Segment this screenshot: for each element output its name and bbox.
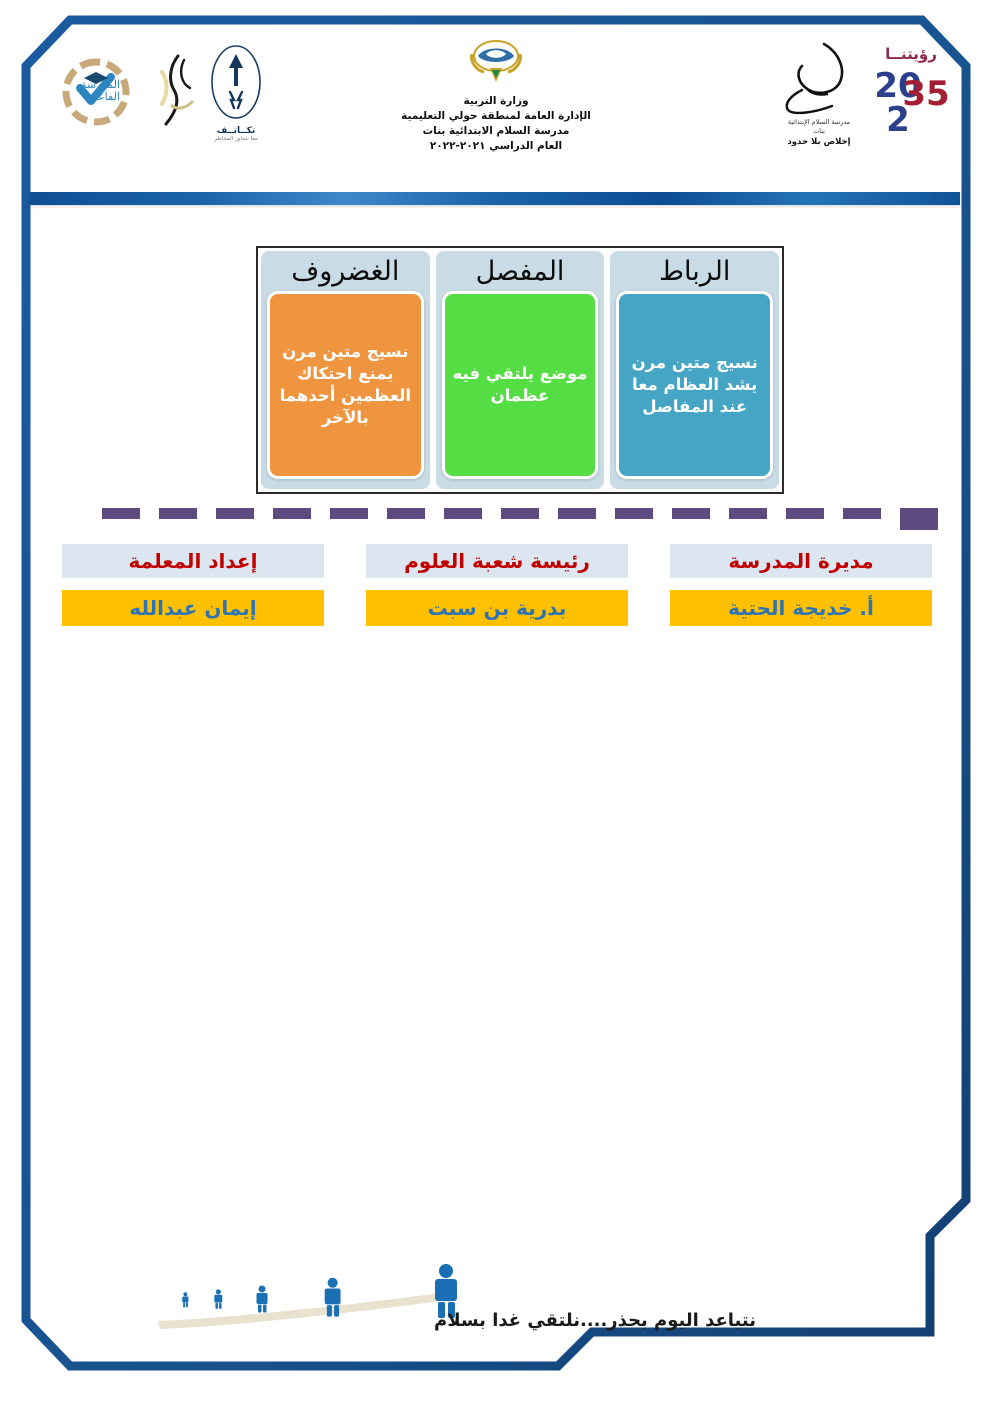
svg-text:مدرسة السلام الإبتدائية: مدرسة السلام الإبتدائية bbox=[788, 118, 850, 126]
footer-distancing-graphic: نتباعد اليوم بحذر....نلتقي غدا بسلام bbox=[36, 1255, 756, 1345]
calligraphy-logo bbox=[148, 46, 202, 138]
credit-column-teacher: إعداد المعلمة إيمان عبدالله bbox=[62, 544, 324, 626]
svg-text:رؤيتنــا: رؤيتنــا bbox=[885, 45, 937, 63]
svg-text:2: 2 bbox=[886, 100, 910, 140]
credit-role-teacher: إعداد المعلمة bbox=[62, 544, 324, 578]
credit-role-principal: مديرة المدرسة bbox=[670, 544, 932, 578]
page-border-frame bbox=[18, 14, 974, 1376]
header-logos-left: تكــاتــف معا نتجاوز المخاطر المدرسة الف… bbox=[50, 42, 264, 142]
credit-name-science-head: بدرية بن سبت bbox=[366, 590, 628, 626]
concepts-container: الرباط نسيج متين مرن يشد العظام معا عند … bbox=[256, 246, 784, 494]
footer-slogan: نتباعد اليوم بحذر....نلتقي غدا بسلام bbox=[434, 1310, 756, 1331]
concept-title-joint: المفصل bbox=[476, 256, 565, 286]
kuwait-emblem-icon bbox=[468, 34, 524, 92]
credit-role-science-head: رئيسة شعبة العلوم bbox=[366, 544, 628, 578]
vision-2035-logo: رؤيتنــا 20 35 2 bbox=[872, 39, 950, 149]
svg-text:بنات: بنات bbox=[813, 127, 825, 135]
concept-body-ligament: نسيج متين مرن يشد العظام معا عند المفاصل bbox=[616, 291, 773, 479]
takatuf-logo-caption: تكــاتــف bbox=[217, 126, 255, 136]
school-identity-logo: مدرسة السلام الإبتدائية بنات إخلاص بلا ح… bbox=[776, 38, 862, 150]
credits-row: مديرة المدرسة أ. خديجة الحتية رئيسة شعبة… bbox=[62, 544, 932, 626]
concept-title-cartilage: الغضروف bbox=[291, 256, 399, 286]
concept-body-joint: موضع يلتقي فيه عظمان bbox=[442, 291, 599, 479]
credit-column-principal: مديرة المدرسة أ. خديجة الحتية bbox=[670, 544, 932, 626]
header-divider-bar bbox=[30, 192, 960, 205]
takatuf-logo: تكــاتــف معا نتجاوز المخاطر bbox=[208, 42, 264, 142]
ministry-line-2: الإدارة العامة لمنطقة حولي التعليمية bbox=[336, 109, 656, 124]
takatuf-logo-sub: معا نتجاوز المخاطر bbox=[214, 136, 258, 142]
ministry-line-1: وزارة التربية bbox=[336, 94, 656, 109]
concept-card-ligament: الرباط نسيج متين مرن يشد العظام معا عند … bbox=[610, 251, 779, 489]
svg-text:الفاعلة: الفاعلة bbox=[89, 90, 120, 103]
effective-school-logo: المدرسة الفاعلة bbox=[50, 54, 142, 130]
concept-card-joint: المفصل موضع يلتقي فيه عظمان bbox=[436, 251, 605, 489]
concept-title-ligament: الرباط bbox=[659, 256, 730, 286]
header-logos-right: رؤيتنــا 20 35 2 مدرسة السلام الإبتدائية… bbox=[776, 38, 950, 150]
ministry-line-4: العام الدراسي ٢٠٢١-٢٠٢٢ bbox=[336, 139, 656, 154]
credit-name-principal: أ. خديجة الحتية bbox=[670, 590, 932, 626]
concept-card-cartilage: الغضروف نسيج متين مرن يمنع احتكاك العظمي… bbox=[261, 251, 430, 489]
credit-column-science-head: رئيسة شعبة العلوم بدرية بن سبت bbox=[366, 544, 628, 626]
ministry-line-3: مدرسة السلام الابتدائية بنات bbox=[336, 124, 656, 139]
credit-name-teacher: إيمان عبدالله bbox=[62, 590, 324, 626]
document-header: تكــاتــف معا نتجاوز المخاطر المدرسة الف… bbox=[30, 28, 962, 188]
dashed-divider bbox=[58, 508, 938, 519]
concept-body-cartilage: نسيج متين مرن يمنع احتكاك العظمين أحدهما… bbox=[267, 291, 424, 479]
header-ministry-block: وزارة التربية الإدارة العامة لمنطقة حولي… bbox=[336, 34, 656, 154]
svg-text:إخلاص بلا حدود: إخلاص بلا حدود bbox=[787, 137, 850, 147]
